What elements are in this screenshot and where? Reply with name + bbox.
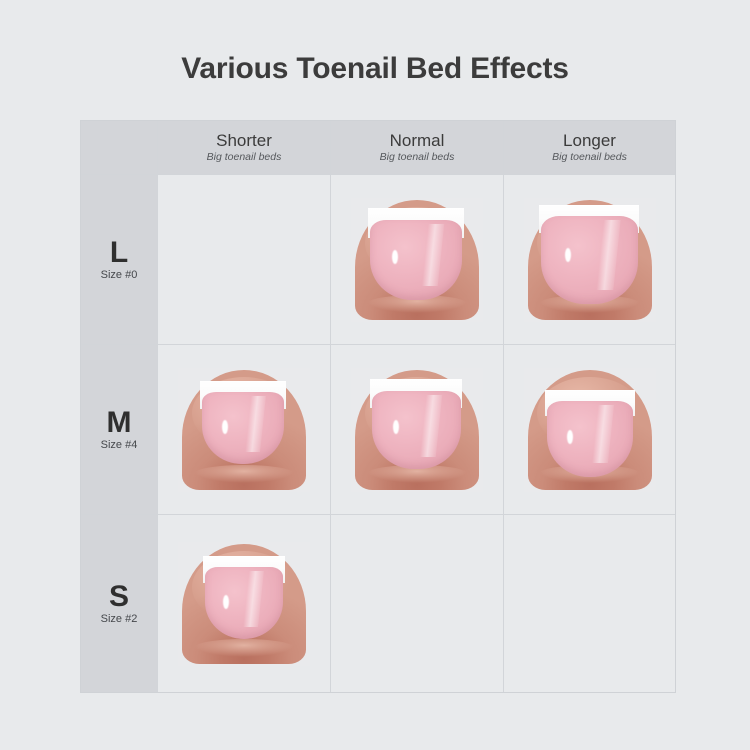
column-header-normal-subtitle: Big toenail beds bbox=[380, 152, 455, 164]
row-header-size-m: M Size #4 bbox=[81, 345, 158, 515]
toenail-image-l-normal bbox=[351, 198, 483, 322]
cell-m-longer bbox=[504, 345, 675, 515]
nail-gloss-highlight bbox=[223, 595, 229, 609]
row-header-size-m-number: Size #4 bbox=[101, 440, 138, 451]
nail-plate-pink bbox=[547, 401, 633, 477]
row-header-size-m-letter: M bbox=[107, 408, 132, 438]
nail-plate-pink bbox=[541, 216, 638, 304]
page-root: Various Toenail Bed Effects Shorter Big … bbox=[0, 0, 750, 750]
toenail-image-l-longer bbox=[524, 198, 656, 322]
toenail-image-m-longer bbox=[524, 368, 656, 492]
nail-gloss-highlight bbox=[565, 248, 571, 262]
nail-gloss-highlight bbox=[392, 250, 398, 264]
cell-s-normal bbox=[331, 515, 504, 692]
cell-m-shorter bbox=[158, 345, 331, 515]
cell-l-longer bbox=[504, 175, 675, 345]
row-header-size-l: L Size #0 bbox=[81, 175, 158, 345]
column-header-normal-title: Normal bbox=[390, 132, 445, 151]
matrix-corner-cell bbox=[81, 121, 158, 175]
row-header-size-l-number: Size #0 bbox=[101, 270, 138, 281]
cell-m-normal bbox=[331, 345, 504, 515]
column-header-longer-title: Longer bbox=[563, 132, 616, 151]
row-header-size-s-letter: S bbox=[109, 582, 129, 612]
column-header-longer-subtitle: Big toenail beds bbox=[552, 152, 627, 164]
nail-gloss-highlight bbox=[393, 420, 399, 434]
cell-l-shorter bbox=[158, 175, 331, 345]
toe-cuticle bbox=[194, 465, 294, 482]
nail-gloss-highlight bbox=[222, 420, 228, 434]
toenail-image-m-shorter bbox=[178, 368, 310, 492]
column-header-longer: Longer Big toenail beds bbox=[504, 121, 675, 175]
column-header-shorter-title: Shorter bbox=[216, 132, 272, 151]
cell-s-longer bbox=[504, 515, 675, 692]
nail-plate-pink bbox=[370, 220, 462, 300]
column-header-shorter-subtitle: Big toenail beds bbox=[207, 152, 282, 164]
toe-cuticle bbox=[194, 639, 294, 656]
row-header-size-l-letter: L bbox=[110, 238, 128, 268]
row-header-size-s: S Size #2 bbox=[81, 515, 158, 692]
column-header-shorter: Shorter Big toenail beds bbox=[158, 121, 331, 175]
toenail-image-m-normal bbox=[351, 368, 483, 492]
toenail-image-s-shorter bbox=[178, 542, 310, 666]
page-title: Various Toenail Bed Effects bbox=[0, 52, 750, 86]
nail-gloss-highlight bbox=[567, 430, 573, 444]
row-header-size-s-number: Size #2 bbox=[101, 614, 138, 625]
nail-plate-pink bbox=[205, 567, 283, 639]
column-header-normal: Normal Big toenail beds bbox=[331, 121, 504, 175]
nail-plate-pink bbox=[372, 391, 461, 469]
cell-s-shorter bbox=[158, 515, 331, 692]
nail-plate-pink bbox=[202, 392, 284, 464]
cell-l-normal bbox=[331, 175, 504, 345]
toenail-effects-matrix: Shorter Big toenail beds Normal Big toen… bbox=[80, 120, 676, 693]
